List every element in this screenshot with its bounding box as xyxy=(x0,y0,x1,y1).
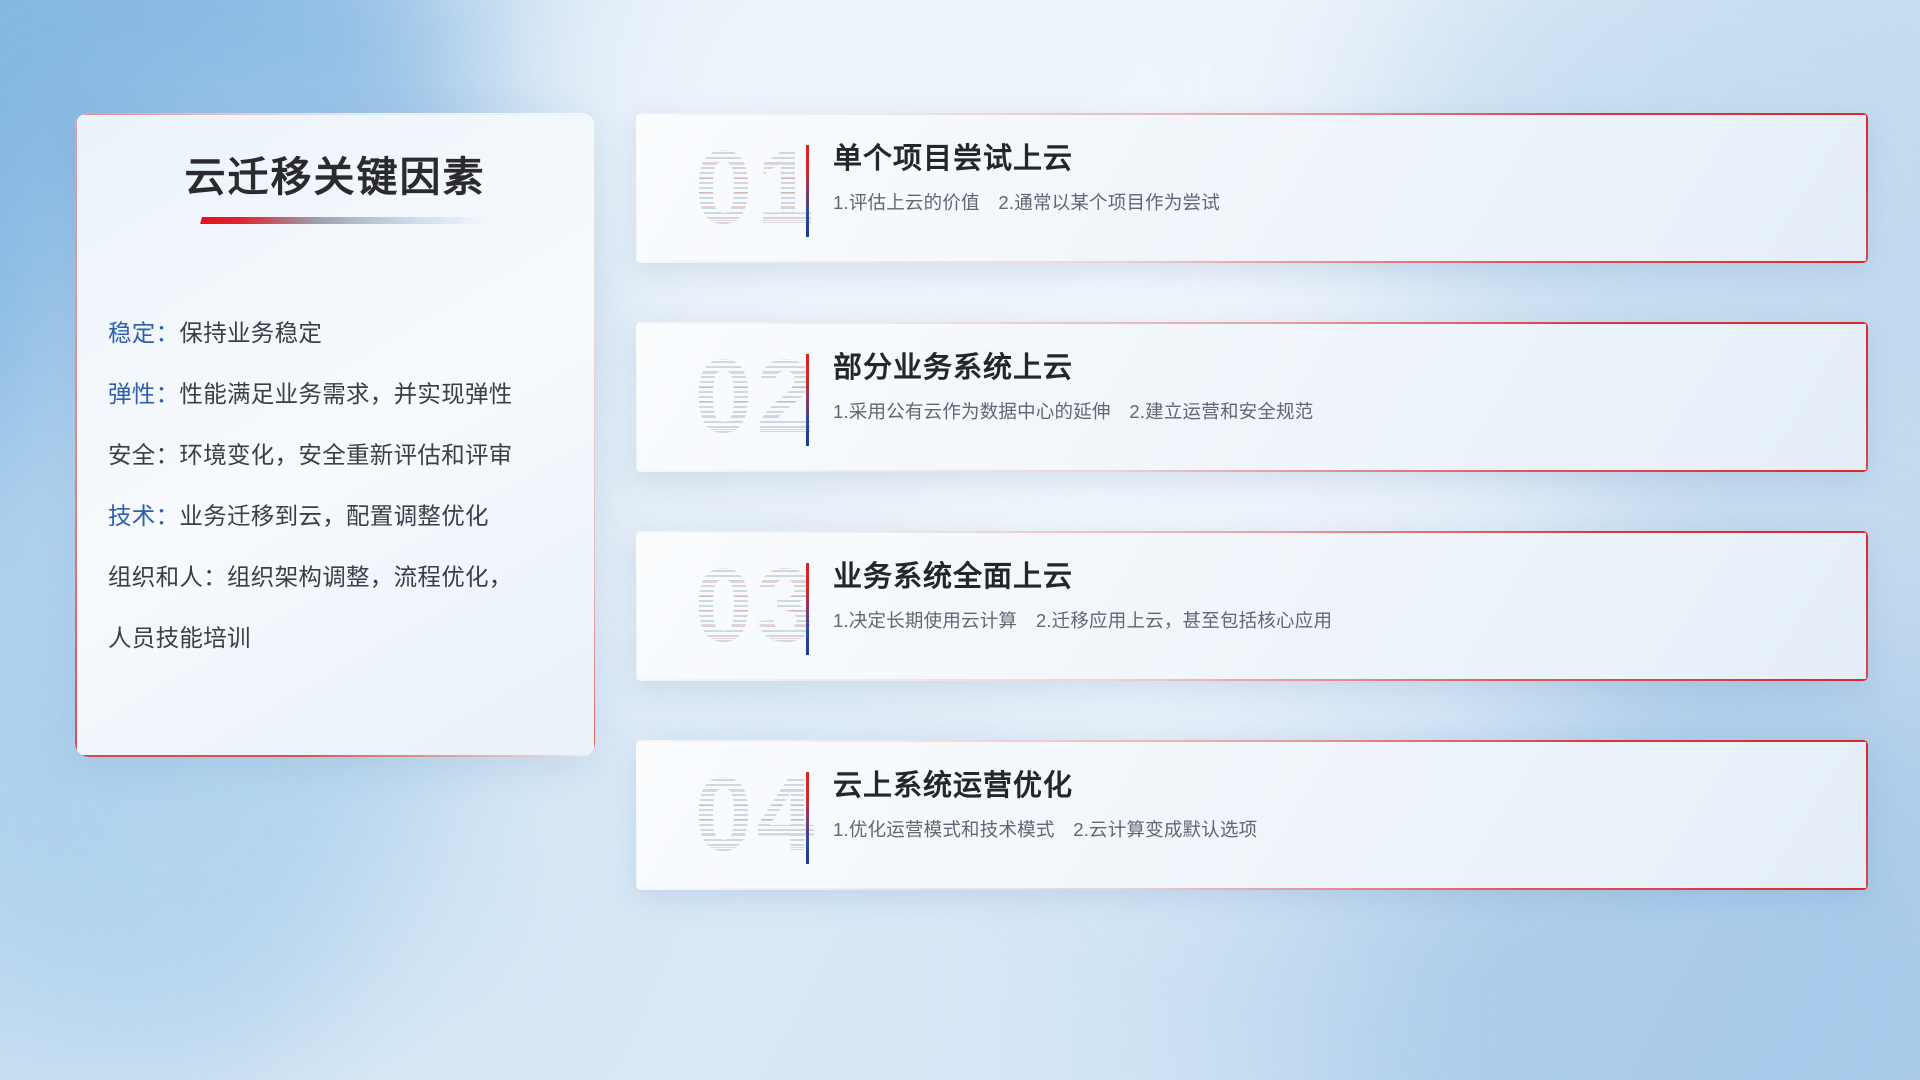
stage-number-watermark-tint: 02 xyxy=(664,336,849,458)
stage-card[interactable]: 0101单个项目尝试上云1.评估上云的价值 2.通常以某个项目作为尝试 xyxy=(636,113,1868,263)
factor-item: 人员技能培训 xyxy=(108,608,571,669)
stage-description: 1.决定长期使用云计算 2.迁移应用上云，甚至包括核心应用 xyxy=(833,608,1844,634)
factor-value: 人员技能培训 xyxy=(108,625,251,651)
factor-list: 稳定：保持业务稳定弹性：性能满足业务需求，并实现弹性安全：环境变化，安全重新评估… xyxy=(108,303,571,669)
card-edge-left xyxy=(636,322,637,472)
stage-accent-bar xyxy=(806,354,809,446)
stage-card[interactable]: 0404云上系统运营优化1.优化运营模式和技术模式 2.云计算变成默认选项 xyxy=(636,740,1868,890)
card-edge-left xyxy=(636,740,637,890)
card-edge-bottom xyxy=(636,261,1868,263)
panel-edge-top xyxy=(75,113,595,115)
stage-accent-bar xyxy=(806,145,809,237)
card-edge-right xyxy=(1866,740,1868,890)
factor-value: 组织架构调整，流程优化， xyxy=(227,564,513,590)
factor-item: 弹性：性能满足业务需求，并实现弹性 xyxy=(108,364,571,425)
card-edge-bottom xyxy=(636,679,1868,681)
stage-title: 业务系统全面上云 xyxy=(833,557,1844,597)
factor-value: 性能满足业务需求，并实现弹性 xyxy=(179,381,512,407)
stage-accent-bar xyxy=(806,563,809,655)
stage-title: 云上系统运营优化 xyxy=(833,766,1844,806)
stage-title: 部分业务系统上云 xyxy=(833,348,1844,388)
title-underline-rule xyxy=(200,217,490,224)
stage-number-watermark-tint: 01 xyxy=(664,127,849,249)
stage-text-block: 部分业务系统上云1.采用公有云作为数据中心的延伸 2.建立运营和安全规范 xyxy=(833,348,1844,425)
card-edge-top xyxy=(636,322,1868,324)
stage-card-list: 0101单个项目尝试上云1.评估上云的价值 2.通常以某个项目作为尝试0202部… xyxy=(636,113,1868,949)
stage-text-block: 云上系统运营优化1.优化运营模式和技术模式 2.云计算变成默认选项 xyxy=(833,766,1844,843)
card-edge-right xyxy=(1866,113,1868,263)
factor-label: 组织和人： xyxy=(108,564,227,590)
factor-value: 环境变化，安全重新评估和评审 xyxy=(179,442,512,468)
panel-edge-right xyxy=(594,113,595,757)
factor-label: 技术： xyxy=(108,503,179,529)
factor-item: 稳定：保持业务稳定 xyxy=(108,303,571,364)
factor-label: 稳定： xyxy=(108,320,179,346)
stage-number-watermark-tint: 04 xyxy=(664,754,849,876)
card-edge-left xyxy=(636,113,637,263)
stage-title: 单个项目尝试上云 xyxy=(833,139,1844,179)
panel-edge-bottom xyxy=(75,755,595,757)
factor-item: 安全：环境变化，安全重新评估和评审 xyxy=(108,425,571,486)
factor-item: 技术：业务迁移到云，配置调整优化 xyxy=(108,486,571,547)
card-edge-bottom xyxy=(636,888,1868,890)
stage-number-watermark-tint: 03 xyxy=(664,545,849,667)
key-factors-panel: 云迁移关键因素 稳定：保持业务稳定弹性：性能满足业务需求，并实现弹性安全：环境变… xyxy=(75,113,595,757)
card-edge-top xyxy=(636,113,1868,115)
factor-label: 弹性： xyxy=(108,381,179,407)
factor-value: 业务迁移到云，配置调整优化 xyxy=(179,503,488,529)
stage-text-block: 单个项目尝试上云1.评估上云的价值 2.通常以某个项目作为尝试 xyxy=(833,139,1844,216)
card-edge-top xyxy=(636,740,1868,742)
card-edge-bottom xyxy=(636,470,1868,472)
stage-description: 1.采用公有云作为数据中心的延伸 2.建立运营和安全规范 xyxy=(833,399,1844,425)
stage-card[interactable]: 0303业务系统全面上云1.决定长期使用云计算 2.迁移应用上云，甚至包括核心应… xyxy=(636,531,1868,681)
card-edge-right xyxy=(1866,531,1868,681)
card-edge-right xyxy=(1866,322,1868,472)
factor-label: 安全： xyxy=(108,442,179,468)
card-edge-top xyxy=(636,531,1868,533)
stage-description: 1.优化运营模式和技术模式 2.云计算变成默认选项 xyxy=(833,817,1844,843)
stage-text-block: 业务系统全面上云1.决定长期使用云计算 2.迁移应用上云，甚至包括核心应用 xyxy=(833,557,1844,634)
factor-item: 组织和人：组织架构调整，流程优化， xyxy=(108,547,571,608)
stage-card[interactable]: 0202部分业务系统上云1.采用公有云作为数据中心的延伸 2.建立运营和安全规范 xyxy=(636,322,1868,472)
stage-accent-bar xyxy=(806,772,809,864)
page-title: 云迁移关键因素 xyxy=(75,143,595,203)
panel-edge-left xyxy=(75,113,77,757)
factor-value: 保持业务稳定 xyxy=(179,320,322,346)
card-edge-left xyxy=(636,531,637,681)
stage-description: 1.评估上云的价值 2.通常以某个项目作为尝试 xyxy=(833,190,1844,216)
